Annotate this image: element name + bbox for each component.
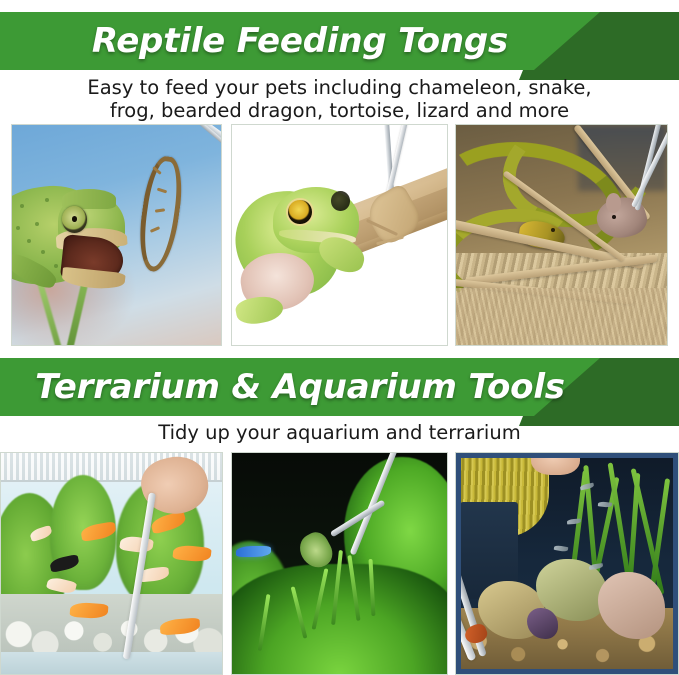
photo-tree-frog <box>231 124 448 346</box>
subtitle-reptile-line1: Easy to feed your pets including chamele… <box>0 76 679 99</box>
photo-snake <box>455 124 668 346</box>
banner-title-terrarium: Terrarium & Aquarium Tools <box>0 358 600 416</box>
photo-planted-tank <box>231 452 448 675</box>
photo-chameleon <box>11 124 222 346</box>
subtitle-terrarium-line1: Tidy up your aquarium and terrarium <box>0 421 679 444</box>
infographic-page: Reptile Feeding Tongs Easy to feed your … <box>0 0 679 675</box>
banner-reptile-feeding: Reptile Feeding Tongs <box>0 12 679 74</box>
photo-rock-tank <box>455 452 679 675</box>
subtitle-reptile-line2: frog, bearded dragon, tortoise, lizard a… <box>0 99 679 122</box>
banner-title-reptile: Reptile Feeding Tongs <box>0 12 600 70</box>
photo-goldfish-tank <box>0 452 223 675</box>
banner-terrarium-aquarium: Terrarium & Aquarium Tools <box>0 358 679 420</box>
